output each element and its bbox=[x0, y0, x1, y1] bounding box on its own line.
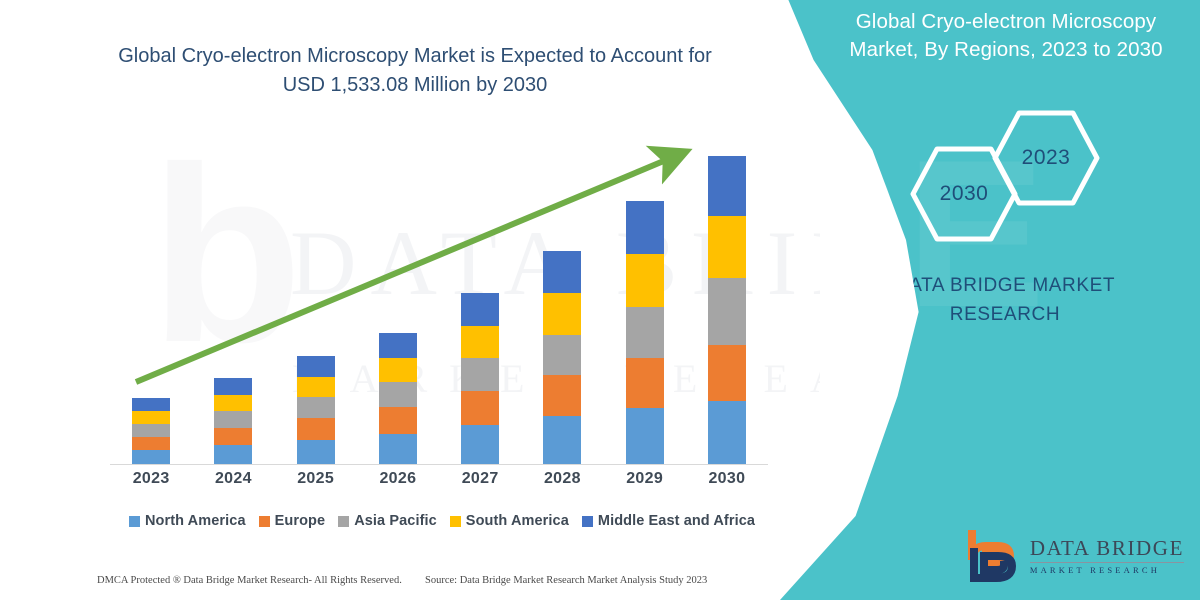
bar-segment-north-america bbox=[708, 401, 746, 464]
legend-label: Middle East and Africa bbox=[598, 513, 755, 529]
hexagon-group: 2030 2023 bbox=[880, 110, 1180, 240]
legend-swatch-icon bbox=[582, 516, 593, 527]
data-bridge-logo: DATA BRIDGE MARKET RESEARCH bbox=[968, 530, 1184, 582]
logo-b-mark-icon bbox=[968, 530, 1020, 582]
footer-dmca-text: DMCA Protected ® Data Bridge Market Rese… bbox=[97, 575, 402, 586]
bar-segment-asia-pacific bbox=[297, 397, 335, 418]
legend-swatch-icon bbox=[259, 516, 270, 527]
bar-segment-south-america bbox=[708, 216, 746, 278]
stacked-bar-2030[interactable] bbox=[708, 156, 746, 464]
x-axis-tick-2030: 2030 bbox=[686, 470, 768, 488]
x-axis-labels: 20232024202520262027202820292030 bbox=[110, 470, 768, 488]
bar-segment-north-america bbox=[626, 408, 664, 464]
legend-swatch-icon bbox=[129, 516, 140, 527]
chart-legend: North AmericaEuropeAsia PacificSouth Ame… bbox=[112, 513, 772, 529]
logo-name: DATA BRIDGE bbox=[1030, 538, 1184, 559]
footer-source-text: Source: Data Bridge Market Research Mark… bbox=[425, 575, 707, 586]
bar-segment-north-america bbox=[379, 434, 417, 464]
bar-segment-middle-east-and-africa bbox=[708, 156, 746, 216]
brand-name-line2: RESEARCH bbox=[820, 301, 1190, 330]
legend-swatch-icon bbox=[338, 516, 349, 527]
legend-label: Asia Pacific bbox=[354, 513, 437, 529]
footer: DMCA Protected ® Data Bridge Market Rese… bbox=[0, 569, 800, 591]
x-axis-tick-2028: 2028 bbox=[521, 470, 603, 488]
legend-item-north-america[interactable]: North America bbox=[129, 513, 246, 529]
legend-label: South America bbox=[466, 513, 569, 529]
x-axis-tick-2023: 2023 bbox=[110, 470, 192, 488]
infographic-root: b DATA BRIDGE MARKET RESEARCH Global Cry… bbox=[0, 0, 1200, 600]
legend-swatch-icon bbox=[450, 516, 461, 527]
logo-divider bbox=[1030, 562, 1184, 563]
bar-segment-europe bbox=[379, 407, 417, 434]
stacked-bar-2023[interactable] bbox=[132, 398, 170, 464]
bar-segment-north-america bbox=[461, 425, 499, 464]
legend-item-asia-pacific[interactable]: Asia Pacific bbox=[338, 513, 437, 529]
bar-segment-europe bbox=[297, 418, 335, 440]
brand-panel: RE Global Cryo-electron Microscopy Marke… bbox=[780, 0, 1200, 600]
bar-segment-north-america bbox=[297, 440, 335, 464]
brand-name: DATA BRIDGE MARKET RESEARCH bbox=[820, 272, 1190, 329]
bar-segment-north-america bbox=[214, 445, 252, 464]
bar-segment-south-america bbox=[132, 411, 170, 424]
logo-tagline: MARKET RESEARCH bbox=[1030, 566, 1184, 575]
panel-title: Global Cryo-electron Microscopy Market, … bbox=[820, 8, 1192, 65]
bar-segment-asia-pacific bbox=[214, 411, 252, 428]
page-title: Global Cryo-electron Microscopy Market i… bbox=[95, 42, 735, 100]
x-axis-line bbox=[110, 464, 768, 465]
brand-name-line1: DATA BRIDGE MARKET bbox=[820, 272, 1190, 301]
legend-label: North America bbox=[145, 513, 246, 529]
bar-segment-europe bbox=[708, 345, 746, 401]
legend-item-middle-east-and-africa[interactable]: Middle East and Africa bbox=[582, 513, 755, 529]
hexagon-2030-label: 2030 bbox=[940, 182, 989, 206]
bar-segment-asia-pacific bbox=[132, 424, 170, 437]
hexagon-2023: 2023 bbox=[992, 110, 1100, 206]
bar-segment-europe bbox=[214, 428, 252, 445]
x-axis-tick-2029: 2029 bbox=[604, 470, 686, 488]
legend-label: Europe bbox=[275, 513, 326, 529]
bar-segment-north-america bbox=[132, 450, 170, 464]
x-axis-tick-2025: 2025 bbox=[275, 470, 357, 488]
x-axis-tick-2027: 2027 bbox=[439, 470, 521, 488]
bar-segment-europe bbox=[132, 437, 170, 450]
bar-segment-asia-pacific bbox=[708, 278, 746, 345]
growth-trend-arrow bbox=[110, 130, 710, 400]
x-axis-tick-2024: 2024 bbox=[192, 470, 274, 488]
bar-segment-north-america bbox=[543, 416, 581, 464]
legend-item-europe[interactable]: Europe bbox=[259, 513, 326, 529]
hexagon-2023-label: 2023 bbox=[1022, 146, 1071, 170]
legend-item-south-america[interactable]: South America bbox=[450, 513, 569, 529]
x-axis-tick-2026: 2026 bbox=[357, 470, 439, 488]
logo-text: DATA BRIDGE MARKET RESEARCH bbox=[1030, 538, 1184, 575]
